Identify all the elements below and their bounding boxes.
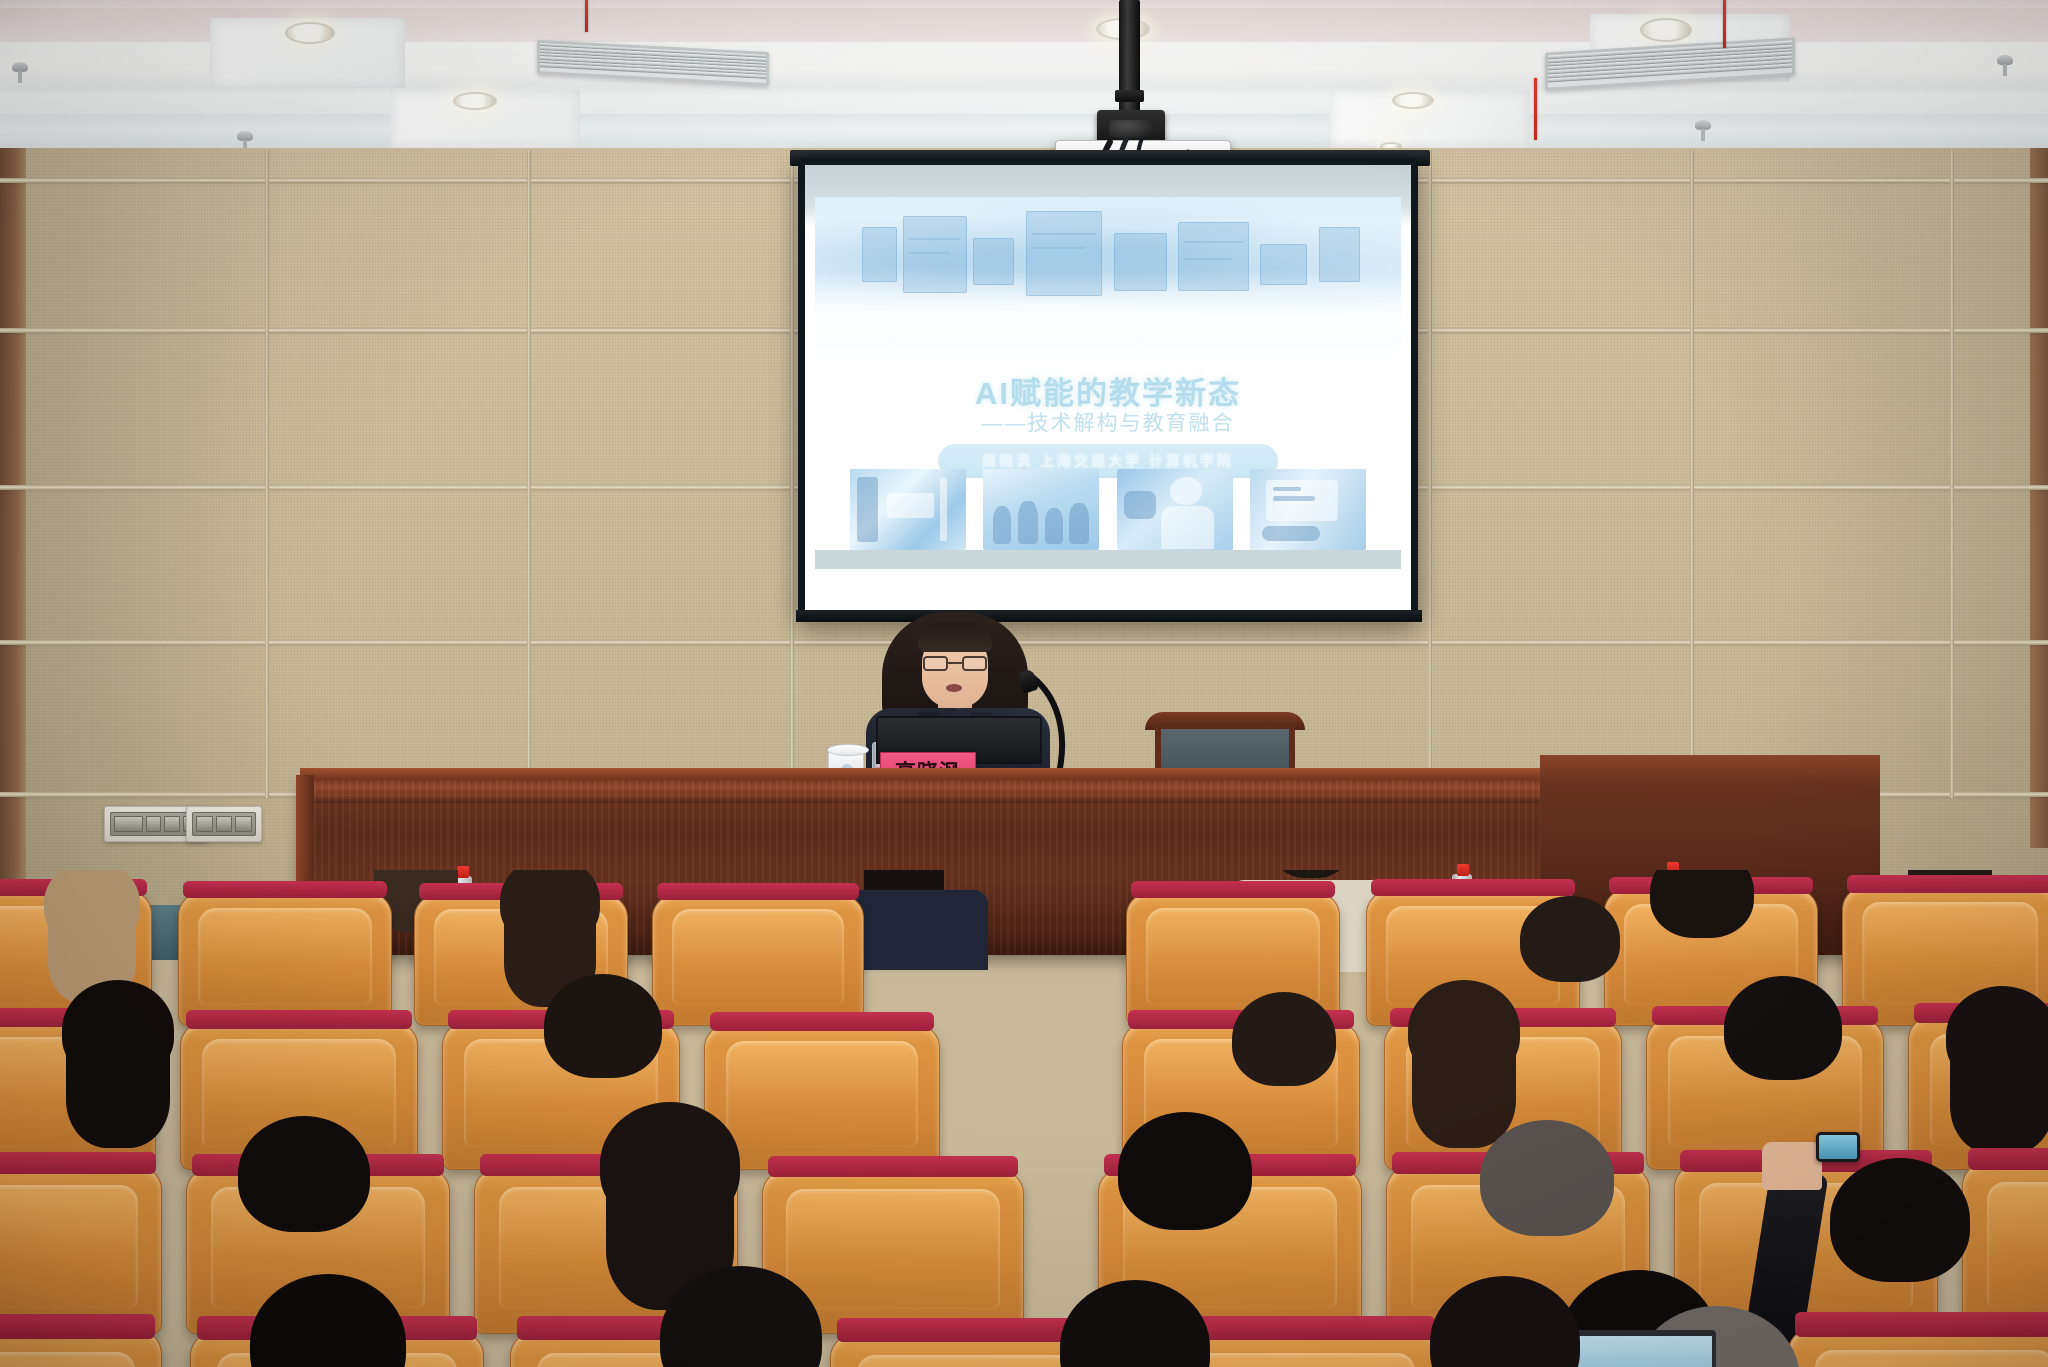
attendee-head [1272, 870, 1350, 878]
attendee-head [238, 1116, 370, 1232]
speaker-mouth [946, 684, 962, 692]
seat[interactable] [178, 892, 392, 1026]
attendee-head [1724, 976, 1842, 1080]
attendee-head [500, 870, 600, 946]
wall-seam [1950, 150, 1954, 798]
hvac-vent-icon [537, 40, 769, 86]
attendee-head [1480, 1120, 1614, 1236]
attendee-head [1232, 992, 1336, 1086]
red-cord [1723, 0, 1726, 48]
wall-seam [527, 150, 531, 798]
attendee-head [62, 980, 174, 1080]
seat[interactable] [0, 1166, 162, 1334]
attendee-laptop[interactable] [1566, 1330, 1716, 1367]
attendee-head [1946, 986, 2048, 1086]
presentation-slide: AI赋能的教学新态 ——技术解构与教育融合 高晓沨 上海交通大学 计算机学院 [815, 197, 1401, 569]
av-wall-plate[interactable] [186, 806, 262, 842]
wall-seam [1690, 150, 1694, 798]
wall-left-edge [0, 148, 26, 928]
projector-mount-pole [1119, 0, 1140, 118]
speaker-fringe [918, 622, 992, 652]
wall-seam [265, 150, 269, 798]
attendee-head [1650, 870, 1754, 938]
attendee-head [860, 870, 948, 888]
slide-thumbnail [1117, 469, 1233, 551]
attendee-head [1118, 1112, 1252, 1230]
downlight-icon [1640, 18, 1692, 42]
downlight-icon [1392, 92, 1434, 109]
red-cord [1534, 78, 1537, 140]
wall-seam [1428, 150, 1432, 798]
attendee-head [1830, 1158, 1970, 1282]
attendee-head [600, 1102, 740, 1226]
slide-thumbnail [850, 469, 966, 551]
downlight-icon [453, 92, 497, 110]
audience-seating [0, 870, 2048, 1367]
slide-thumbnail [983, 469, 1099, 551]
screen-surface: AI赋能的教学新态 ——技术解构与教育融合 高晓沨 上海交通大学 计算机学院 [805, 165, 1411, 611]
attendee-hand [1762, 1142, 1822, 1190]
red-cord [585, 0, 588, 32]
sprinkler-icon [12, 62, 28, 72]
seat[interactable] [652, 894, 864, 1026]
sprinkler-icon [1997, 55, 2013, 65]
projection-screen: AI赋能的教学新态 ——技术解构与教育融合 高晓沨 上海交通大学 计算机学院 [798, 158, 1418, 618]
wall-seam [790, 150, 794, 798]
hvac-vent-icon [1545, 37, 1795, 90]
lecture-hall-photo: AI赋能的教学新态 ——技术解构与教育融合 高晓沨 上海交通大学 计算机学院 [0, 0, 2048, 1367]
slide-thumbnail [1250, 469, 1366, 551]
wall-right-edge [2030, 148, 2048, 848]
attendee-head [370, 870, 462, 880]
seat[interactable] [1788, 1328, 2048, 1367]
slide-subtitle: ——技术解构与教育融合 [815, 407, 1401, 437]
slide-footer-bar [815, 550, 1401, 569]
smartphone[interactable] [1816, 1132, 1860, 1162]
downlight-icon [285, 22, 335, 44]
sprinkler-icon [1695, 120, 1711, 130]
attendee-head [44, 870, 140, 946]
attendee-head [544, 974, 662, 1078]
glasses-icon [923, 656, 987, 671]
attendee-head [1408, 980, 1520, 1080]
slide-header-banner [815, 197, 1401, 335]
seat[interactable] [704, 1024, 940, 1170]
seat[interactable] [0, 1330, 162, 1367]
attendee-head [1520, 896, 1620, 982]
ceiling [0, 0, 2048, 150]
seat[interactable] [1962, 1162, 2048, 1334]
ceiling-band [0, 114, 2048, 148]
slide-thumbnail-strip [850, 469, 1366, 551]
sprinkler-icon [237, 131, 253, 141]
